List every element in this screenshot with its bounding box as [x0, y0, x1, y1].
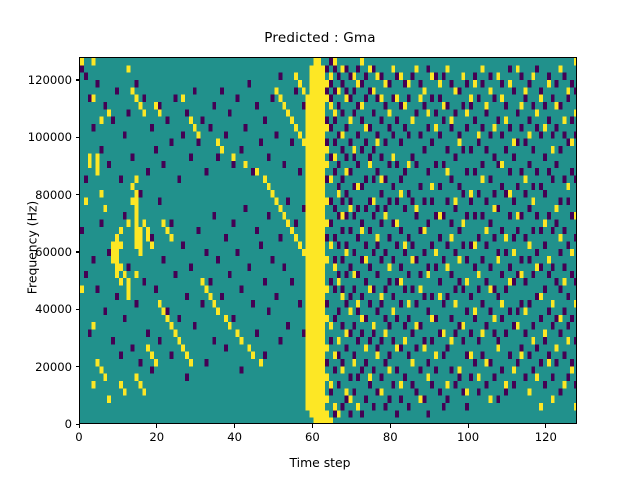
x-axis-label: Time step	[0, 455, 640, 470]
x-tick-mark	[468, 424, 469, 428]
x-tick-mark	[545, 424, 546, 428]
y-tick-label: 100000	[0, 130, 72, 144]
y-tick-label: 20000	[0, 360, 72, 374]
page-title: Predicted : Gma	[0, 30, 640, 46]
x-tick-label: 80	[360, 430, 420, 444]
matplotlib-figure: Predicted : Gma 020000400006000080000100…	[0, 0, 640, 480]
x-tick-label: 60	[282, 430, 342, 444]
x-tick-label: 40	[205, 430, 265, 444]
x-tick-label: 100	[438, 430, 498, 444]
x-tick-label: 0	[49, 430, 109, 444]
y-tick-label: 0	[0, 417, 72, 431]
y-axis-label: Frequency (Hz)	[25, 178, 40, 318]
x-tick-label: 120	[516, 430, 576, 444]
heatmap-image	[80, 58, 577, 424]
y-tick-label: 120000	[0, 73, 72, 87]
x-tick-mark	[234, 424, 235, 428]
x-tick-mark	[156, 424, 157, 428]
x-tick-mark	[390, 424, 391, 428]
x-tick-mark	[79, 424, 80, 428]
x-tick-mark	[312, 424, 313, 428]
heatmap-axes	[79, 57, 577, 424]
x-tick-label: 20	[127, 430, 187, 444]
